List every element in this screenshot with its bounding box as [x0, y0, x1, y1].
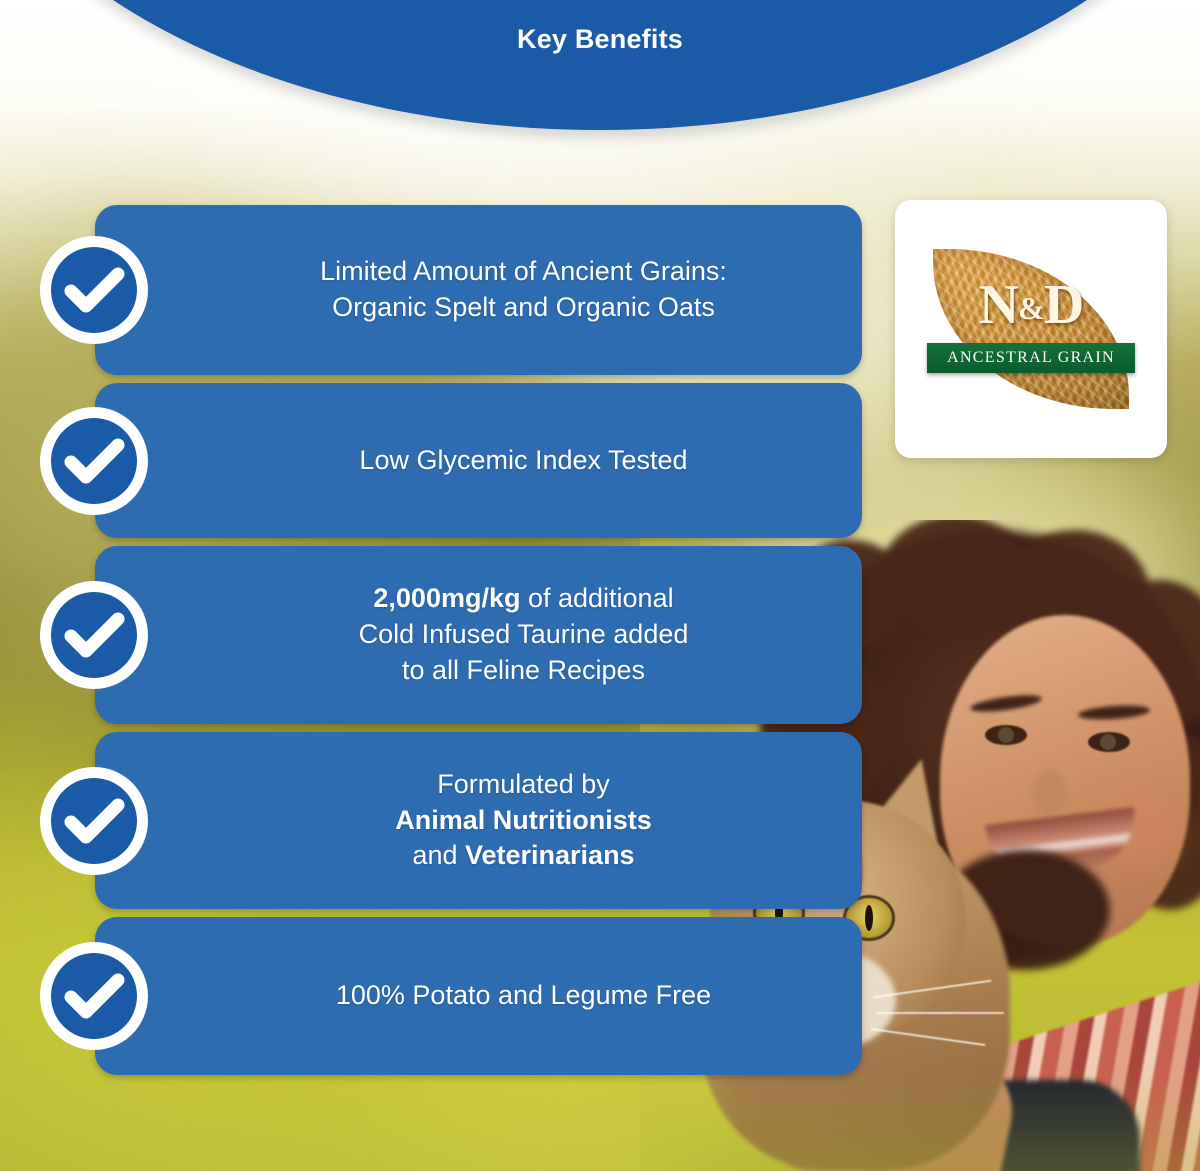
benefit-line: to all Feline Recipes: [402, 655, 645, 685]
benefit-text: Low Glycemic Index Tested: [225, 443, 822, 479]
key-benefits-infographic: Key Benefits N&D ANCESTRAL GRAIN Limited…: [0, 0, 1200, 1171]
benefit-highlight: Animal Nutritionists: [395, 805, 652, 835]
benefit-line: Low Glycemic Index Tested: [359, 445, 687, 475]
benefit-card: 100% Potato and Legume Free: [95, 917, 862, 1075]
benefit-line: 100% Potato and Legume Free: [336, 980, 711, 1010]
benefit-line: Organic Spelt and Organic Oats: [332, 292, 715, 322]
benefit-card: Limited Amount of Ancient Grains: Organi…: [95, 205, 862, 375]
benefit-item-ancient-grains: Limited Amount of Ancient Grains: Organi…: [0, 205, 1200, 375]
check-circle-icon: [38, 405, 150, 517]
benefit-item-low-glycemic-index: Low Glycemic Index Tested: [0, 383, 1200, 538]
benefit-item-formulated-by: Formulated by Animal Nutritionists and V…: [0, 732, 1200, 909]
check-circle-icon: [38, 234, 150, 346]
check-circle-icon: [38, 940, 150, 1052]
benefit-card: Formulated by Animal Nutritionists and V…: [95, 732, 862, 909]
page-title: Key Benefits: [0, 24, 1200, 55]
benefit-highlight: Veterinarians: [465, 840, 635, 870]
benefit-text: Formulated by Animal Nutritionists and V…: [225, 767, 822, 875]
benefit-text: Limited Amount of Ancient Grains: Organi…: [225, 254, 822, 326]
benefit-card: Low Glycemic Index Tested: [95, 383, 862, 538]
benefit-item-potato-legume-free: 100% Potato and Legume Free: [0, 917, 1200, 1075]
benefit-item-taurine: 2,000mg/kg of additional Cold Infused Ta…: [0, 546, 1200, 724]
benefit-line: Limited Amount of Ancient Grains:: [320, 256, 727, 286]
benefit-line: Formulated by: [437, 769, 610, 799]
benefit-line: of additional: [520, 583, 673, 613]
benefit-line: Cold Infused Taurine added: [359, 619, 689, 649]
benefits-list: Limited Amount of Ancient Grains: Organi…: [0, 205, 1200, 1083]
benefit-highlight: 2,000mg/kg: [373, 583, 520, 613]
benefit-text: 2,000mg/kg of additional Cold Infused Ta…: [225, 581, 822, 689]
check-circle-icon: [38, 765, 150, 877]
benefit-line-prefix: and: [412, 840, 465, 870]
check-circle-icon: [38, 579, 150, 691]
benefit-text: 100% Potato and Legume Free: [225, 978, 822, 1014]
benefit-card: 2,000mg/kg of additional Cold Infused Ta…: [95, 546, 862, 724]
